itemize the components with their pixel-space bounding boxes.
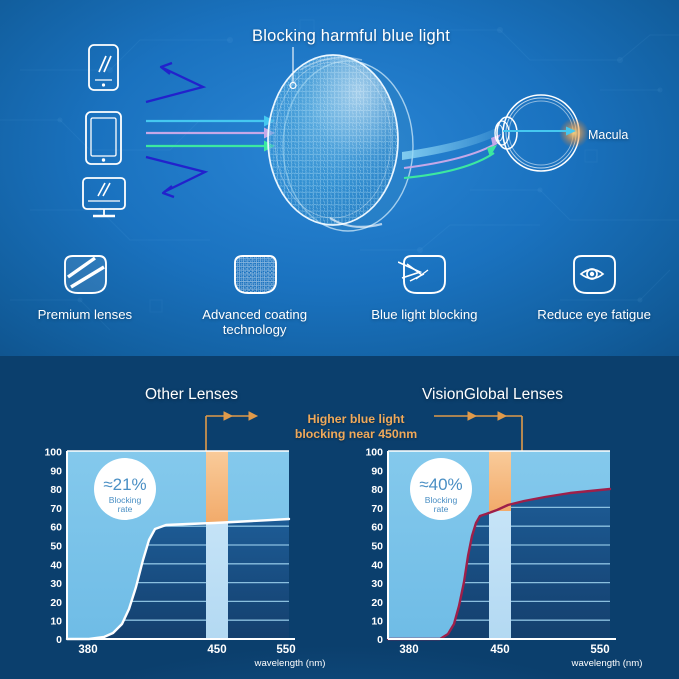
feature-reduce-eye-fatigue[interactable]: Reduce eye fatigue bbox=[509, 252, 679, 352]
svg-text:70: 70 bbox=[50, 503, 62, 515]
blocking-gap-marker-left bbox=[206, 451, 228, 522]
svg-text:50: 50 bbox=[50, 541, 62, 553]
lens-coating-mesh-icon bbox=[229, 252, 281, 298]
svg-text:30: 30 bbox=[371, 578, 383, 590]
svg-text:rate: rate bbox=[118, 504, 133, 514]
feature-premium-lenses[interactable]: Premium lenses bbox=[0, 252, 170, 352]
svg-text:rate: rate bbox=[434, 504, 449, 514]
tablet-icon bbox=[86, 112, 121, 164]
macula-spot bbox=[559, 118, 589, 148]
svg-text:wavelength (nm): wavelength (nm) bbox=[254, 658, 326, 669]
blocked-ray-lower bbox=[146, 157, 205, 197]
svg-text:0: 0 bbox=[56, 634, 62, 646]
svg-text:50: 50 bbox=[371, 541, 383, 553]
chart-other-lenses: 100 90 80 70 60 50 40 30 20 10 0 380 450… bbox=[44, 447, 325, 670]
hero-illustration: Blocking harmful blue light Macula bbox=[0, 0, 679, 250]
feature-label: Premium lenses bbox=[38, 307, 133, 322]
svg-text:20: 20 bbox=[371, 597, 383, 609]
feature-label: Advanced coating technology bbox=[202, 307, 307, 337]
svg-text:450: 450 bbox=[207, 644, 226, 656]
svg-text:550: 550 bbox=[276, 644, 295, 656]
svg-text:40: 40 bbox=[371, 559, 383, 571]
smartphone-icon bbox=[89, 45, 118, 90]
svg-text:100: 100 bbox=[365, 447, 383, 459]
charts-graphic: 100 90 80 70 60 50 40 30 20 10 0 380 450… bbox=[0, 356, 679, 679]
transmitted-ray-violet bbox=[146, 128, 275, 139]
svg-text:80: 80 bbox=[50, 484, 62, 496]
monitor-icon bbox=[83, 178, 125, 216]
svg-text:450: 450 bbox=[490, 644, 509, 656]
svg-text:≈21%: ≈21% bbox=[103, 475, 146, 494]
blocked-ray-upper bbox=[146, 63, 203, 102]
blue-light-lens bbox=[265, 53, 413, 231]
svg-text:30: 30 bbox=[50, 578, 62, 590]
feature-advanced-coating[interactable]: Advanced coating technology bbox=[170, 252, 340, 352]
svg-text:40: 40 bbox=[50, 559, 62, 571]
lens-shine-icon bbox=[59, 252, 111, 298]
charts-section: Other Lenses VisionGlobal Lenses Higher … bbox=[0, 356, 679, 679]
feature-label: Blue light blocking bbox=[371, 307, 477, 322]
svg-text:80: 80 bbox=[371, 484, 383, 496]
svg-text:wavelength (nm): wavelength (nm) bbox=[571, 658, 643, 669]
svg-text:10: 10 bbox=[371, 616, 383, 628]
svg-text:550: 550 bbox=[590, 644, 609, 656]
svg-text:380: 380 bbox=[78, 644, 97, 656]
svg-text:0: 0 bbox=[377, 634, 383, 646]
hero-title: Blocking harmful blue light bbox=[252, 27, 450, 46]
svg-text:90: 90 bbox=[371, 465, 383, 477]
svg-text:60: 60 bbox=[371, 522, 383, 534]
svg-text:60: 60 bbox=[50, 522, 62, 534]
svg-text:≈40%: ≈40% bbox=[419, 475, 462, 494]
svg-text:20: 20 bbox=[50, 597, 62, 609]
feature-row: Premium lenses bbox=[0, 252, 679, 352]
svg-text:70: 70 bbox=[371, 503, 383, 515]
feature-label: Reduce eye fatigue bbox=[537, 307, 651, 322]
svg-text:100: 100 bbox=[44, 447, 62, 459]
eye-relax-icon bbox=[568, 252, 620, 298]
feature-blue-light-blocking[interactable]: Blue light blocking bbox=[340, 252, 510, 352]
transmitted-ray-cyan bbox=[146, 116, 275, 127]
svg-text:10: 10 bbox=[50, 616, 62, 628]
beam-to-eye bbox=[402, 126, 501, 178]
macula-label: Macula bbox=[588, 128, 628, 142]
infographic-root: Blocking harmful blue light Macula Premi… bbox=[0, 0, 679, 679]
lens-blue-block-icon bbox=[398, 252, 450, 298]
svg-text:380: 380 bbox=[399, 644, 418, 656]
chart-visionglobal-lenses: 100 90 80 70 60 50 40 30 20 10 0 380 450… bbox=[365, 447, 642, 670]
transmitted-ray-green bbox=[146, 141, 275, 152]
blocking-gap-marker-right bbox=[489, 451, 511, 511]
svg-text:90: 90 bbox=[50, 465, 62, 477]
